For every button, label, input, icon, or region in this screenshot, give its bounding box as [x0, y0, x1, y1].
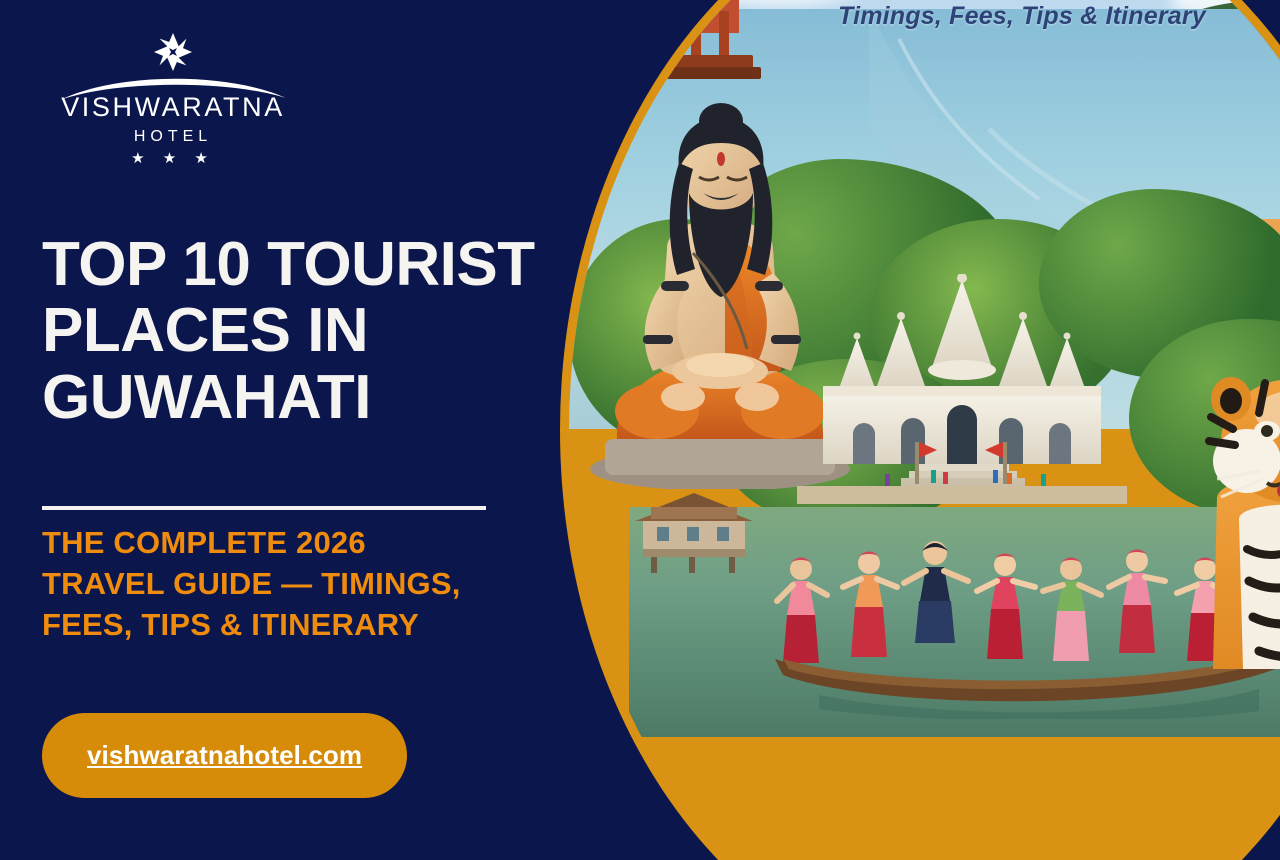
lake-resort-icon [629, 489, 759, 579]
star-rating-icon: ★ ★ ★ [58, 151, 288, 166]
promo-banner: Timings, Fees, Tips & Itinerary [0, 0, 1280, 860]
page-subtitle: THE COMPLETE 2026 TRAVEL GUIDE — TIMINGS… [42, 522, 612, 646]
collage-photo-clip [569, 0, 1280, 860]
headline-line-3: GUWAHATI [42, 365, 602, 431]
subhead-line-1: THE COMPLETE 2026 [42, 522, 612, 563]
headline-line-1: TOP 10 TOURIST [42, 232, 602, 298]
eight-point-star-icon [151, 30, 195, 74]
headline-line-2: PLACES IN [42, 298, 602, 364]
brand-logo[interactable]: VISHWARATNA HOTEL ★ ★ ★ [58, 26, 288, 166]
collage-circle [560, 0, 1280, 860]
title-divider [42, 506, 486, 510]
page-title: TOP 10 TOURIST PLACES IN GUWAHATI [42, 232, 602, 431]
royal-bengal-tiger-icon [1169, 369, 1280, 669]
subhead-line-3: FEES, TIPS & ITINERARY [42, 604, 612, 645]
left-content-panel: VISHWARATNA HOTEL ★ ★ ★ TOP 10 TOURIST P… [0, 0, 640, 860]
brand-name: VISHWARATNA [58, 92, 288, 123]
subhead-line-2: TRAVEL GUIDE — TIMINGS, [42, 563, 612, 604]
white-marble-temple-icon [797, 274, 1127, 504]
website-url-button[interactable]: vishwaratnahotel.com [42, 713, 407, 798]
brand-subtitle: HOTEL [58, 128, 288, 146]
